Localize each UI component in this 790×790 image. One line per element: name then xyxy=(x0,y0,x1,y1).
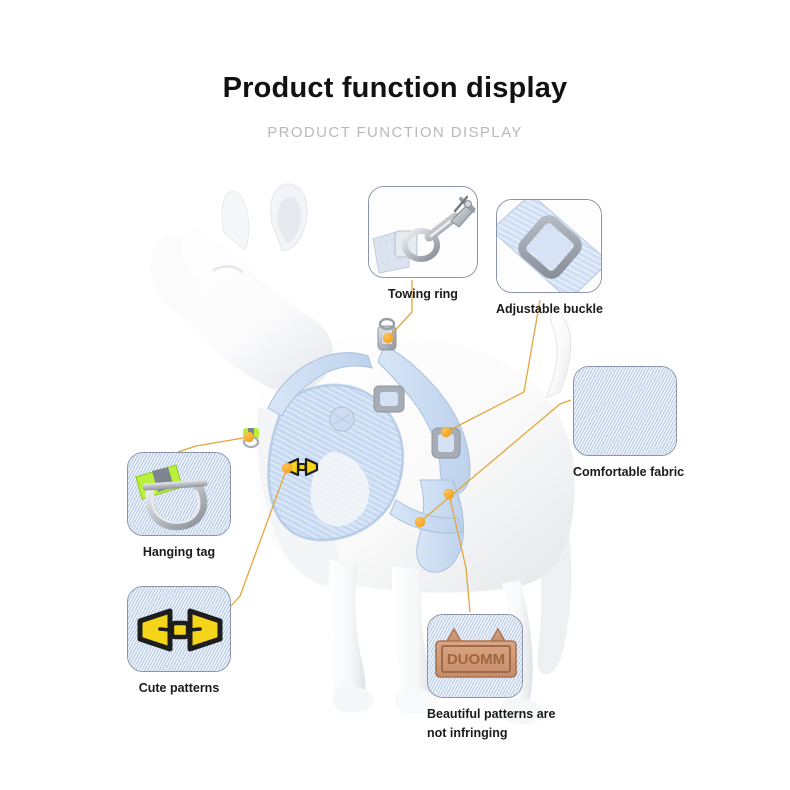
connector-beautiful-patterns xyxy=(449,494,470,612)
towing-ring-image xyxy=(368,186,478,278)
callout-adjustable-buckle: Adjustable buckle xyxy=(496,199,603,319)
callout-comfortable-fabric: Comfortable fabric xyxy=(573,366,684,482)
cute-patterns-label: Cute patterns xyxy=(127,679,231,698)
callout-cute-patterns: Cute patterns xyxy=(127,586,231,698)
yellow-bow-tie-embroidery-icon xyxy=(128,587,231,672)
adjustable-buckle-image xyxy=(496,199,602,293)
marker-hanging-tag xyxy=(244,432,254,442)
marker-towing-ring xyxy=(383,333,393,343)
connector-hanging-tag xyxy=(178,437,249,452)
patch-text: DUOMM xyxy=(447,651,505,668)
beautiful-patterns-image: DUOMM xyxy=(427,614,523,698)
d-ring-with-green-strap-icon xyxy=(128,453,231,536)
comfortable-fabric-label: Comfortable fabric xyxy=(573,463,684,482)
cute-patterns-image xyxy=(127,586,231,672)
hanging-tag-image xyxy=(127,452,231,536)
marker-beautiful-patterns xyxy=(444,489,454,499)
callout-towing-ring: Towing ring xyxy=(368,186,478,304)
connector-adjustable-buckle xyxy=(446,300,540,432)
marker-cute-patterns xyxy=(282,463,292,473)
duomm-leather-brand-patch-icon: DUOMM xyxy=(428,615,523,698)
connector-comfortable-fabric xyxy=(420,400,571,522)
adjustable-buckle-label: Adjustable buckle xyxy=(496,300,603,319)
marker-adjustable-buckle xyxy=(441,427,451,437)
callout-beautiful-patterns: DUOMM Beautiful patterns are not infring… xyxy=(427,614,556,743)
carabiner-hook-and-d-ring-icon xyxy=(369,187,478,278)
strap-with-square-buckle-icon xyxy=(497,200,602,293)
woven-fabric-swatch-icon xyxy=(574,367,676,455)
towing-ring-label: Towing ring xyxy=(368,285,478,304)
comfortable-fabric-image xyxy=(573,366,677,456)
beautiful-patterns-label: Beautiful patterns are not infringing xyxy=(427,705,556,743)
infographic-canvas: Product function display PRODUCT FUNCTIO… xyxy=(0,0,790,790)
marker-comfortable-fabric xyxy=(415,517,425,527)
callout-hanging-tag: Hanging tag xyxy=(127,452,231,562)
connector-cute-patterns xyxy=(231,468,287,606)
hanging-tag-label: Hanging tag xyxy=(127,543,231,562)
